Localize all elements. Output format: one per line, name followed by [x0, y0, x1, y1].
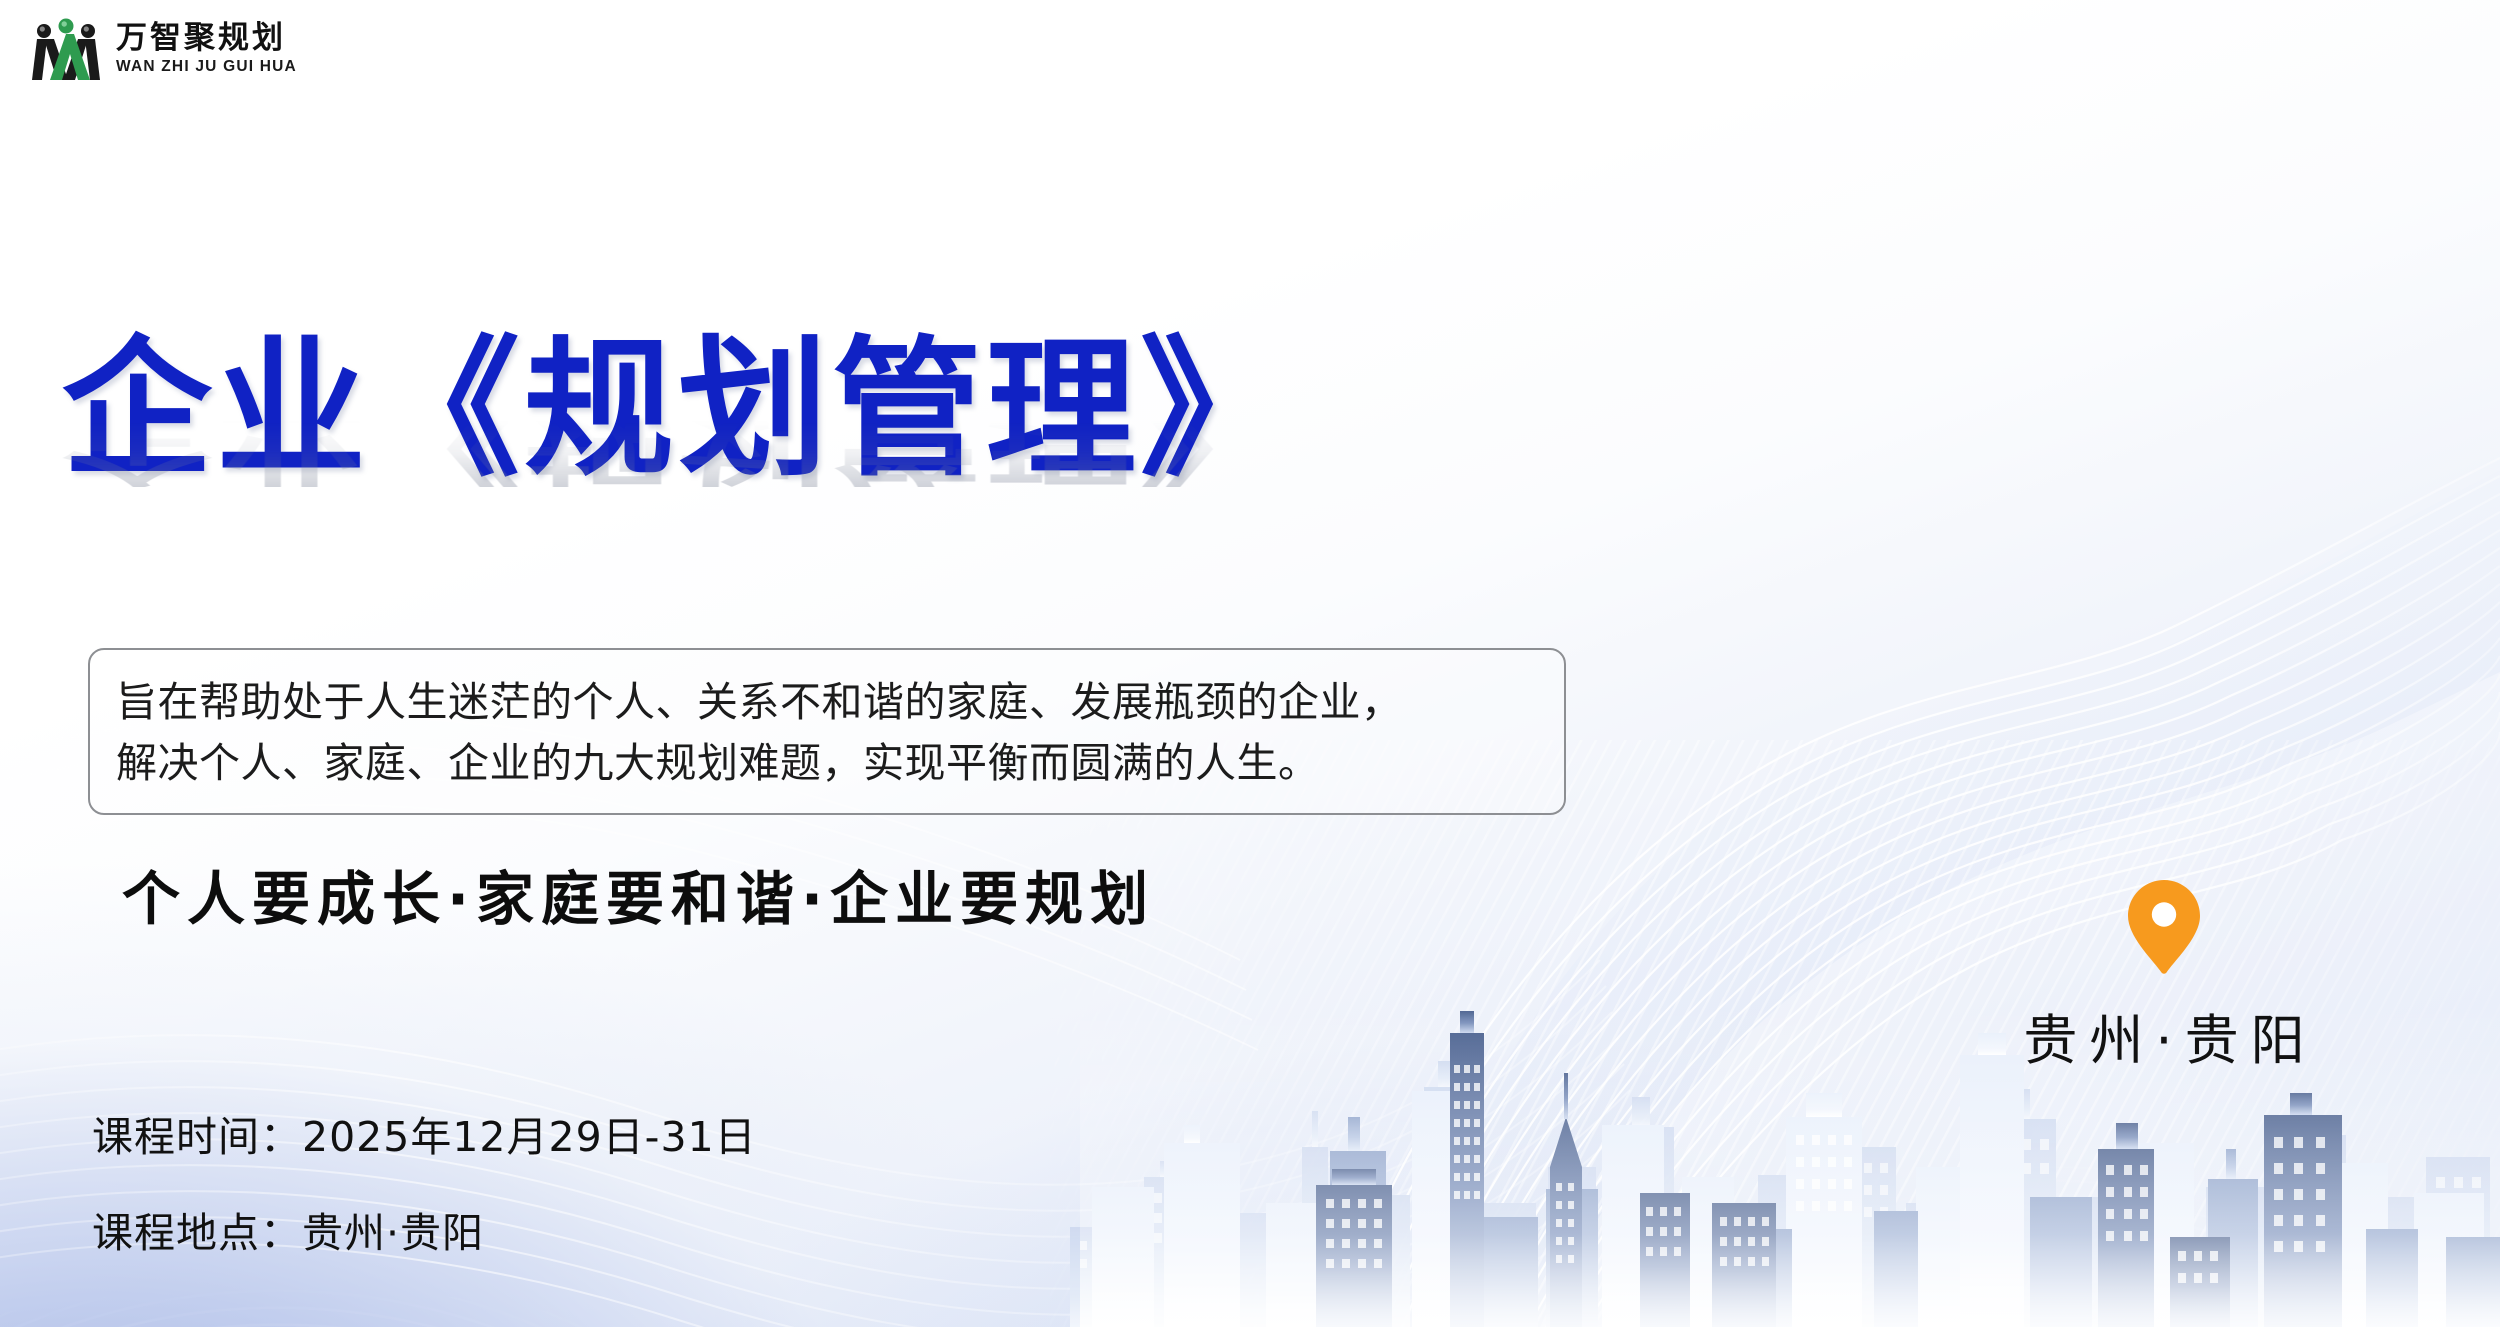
three-people-logo-icon: [30, 18, 102, 80]
location-badge: 贵州·贵阳: [1954, 880, 2374, 1075]
map-pin-icon: [2128, 880, 2200, 974]
slogan-text: 个人要成长·家庭要和谐·企业要规划: [122, 852, 1155, 936]
course-place: 课程地点：贵州·贵阳: [92, 1199, 757, 1259]
brand-name-en: WAN ZHI JU GUI HUA: [116, 59, 297, 75]
location-text: 贵州·贵阳: [1954, 996, 2374, 1075]
course-info-block: 课程时间：2025年12月29日-31日 课程地点：贵州·贵阳: [92, 1103, 757, 1259]
brand-logo[interactable]: 万智聚规划 WAN ZHI JU GUI HUA: [30, 18, 297, 80]
brand-name-cn: 万智聚规划: [116, 23, 297, 54]
brand-wordmark: 万智聚规划 WAN ZHI JU GUI HUA: [116, 23, 297, 75]
course-time: 课程时间：2025年12月29日-31日: [92, 1103, 757, 1163]
poster-canvas: 万智聚规划 WAN ZHI JU GUI HUA 企业《规划管理》 企业《规划管…: [0, 0, 2500, 1327]
description-line-1: 旨在帮助处于人生迷茫的个人、关系不和谐的家庭、发展瓶颈的企业，: [116, 672, 1538, 733]
hero-title-block: 企业《规划管理》 企业《规划管理》: [62, 335, 1662, 637]
description-line-2: 解决个人、家庭、企业的九大规划难题，实现平衡而圆满的人生。: [116, 733, 1538, 794]
description-box: 旨在帮助处于人生迷茫的个人、关系不和谐的家庭、发展瓶颈的企业， 解决个人、家庭、…: [88, 648, 1566, 815]
page-title-reflection: 企业《规划管理》: [62, 405, 1662, 488]
